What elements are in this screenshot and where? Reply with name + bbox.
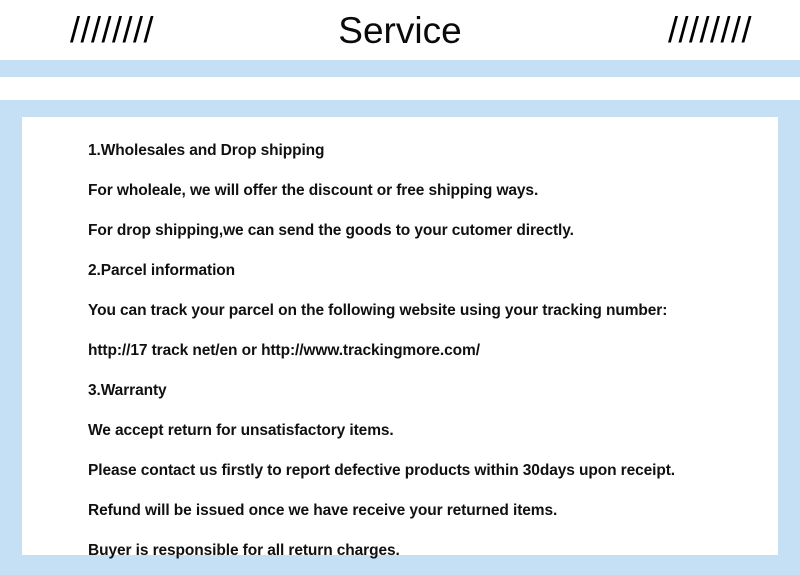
- service-info-page: //////// Service //////// 1.Wholesales a…: [0, 0, 800, 575]
- content-panel: 1.Wholesales and Drop shipping For whole…: [22, 117, 778, 555]
- content-line: We accept return for unsatisfactory item…: [88, 411, 778, 451]
- content-line: Please contact us firstly to report defe…: [88, 451, 778, 491]
- page-title: Service: [338, 12, 461, 49]
- content-line: For drop shipping,we can send the goods …: [88, 211, 778, 251]
- content-line: 3.Warranty: [88, 371, 778, 411]
- content-line: Refund will be issued once we have recei…: [88, 491, 778, 531]
- header-content-gap: [0, 77, 800, 100]
- slash-decoration-right-icon: ////////: [668, 12, 752, 48]
- content-line: For wholeale, we will offer the discount…: [88, 171, 778, 211]
- content-line: You can track your parcel on the followi…: [88, 291, 778, 331]
- slash-decoration-left-icon: ////////: [70, 12, 154, 48]
- page-header: //////// Service ////////: [0, 0, 800, 60]
- header-divider-bar: [0, 60, 800, 77]
- content-line: 2.Parcel information: [88, 251, 778, 291]
- content-line: Buyer is responsible for all return char…: [88, 531, 778, 571]
- content-line: http://17 track net/en or http://www.tra…: [88, 331, 778, 371]
- header-inner: //////// Service ////////: [70, 12, 730, 49]
- content-frame: 1.Wholesales and Drop shipping For whole…: [0, 100, 800, 575]
- content-line: 1.Wholesales and Drop shipping: [88, 131, 778, 171]
